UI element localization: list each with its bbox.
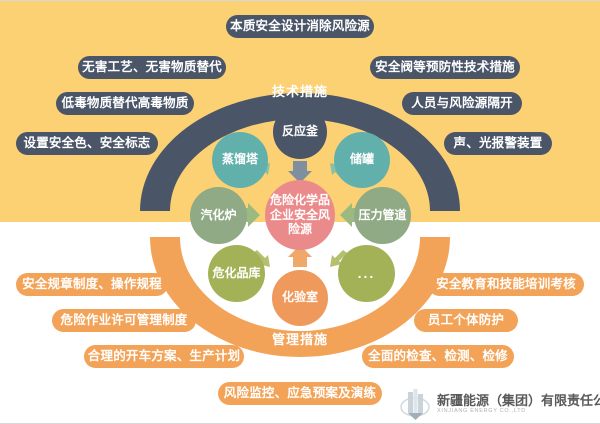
node-pressure-pipeline-label: 压力管道 (358, 209, 406, 222)
pill-audio-visual-alarm-label: 声、光报警装置 (454, 137, 543, 150)
logo-company-name-cn: 新疆能源（集团）有限责任公司 (437, 394, 600, 407)
node-distillation-tower[interactable]: 蒸馏塔 (212, 132, 268, 188)
pill-essential-safety-design-label: 本质安全设计消除风险源 (230, 20, 370, 33)
pill-personnel-isolation-label: 人员与风险源隔开 (411, 97, 513, 110)
pill-harmless-process-label: 无害工艺、无害物质替代 (82, 61, 222, 74)
pill-safety-valve-preventive-label: 安全阀等预防性技术措施 (375, 61, 515, 74)
node-gasifier-label: 汽化炉 (200, 209, 236, 222)
pill-risk-monitoring-emergency-label: 风险监控、应急预案及演练 (224, 387, 376, 400)
pill-comprehensive-inspection[interactable]: 全面的检查、检测、检修 (362, 345, 514, 368)
pill-safety-rules-procedures-label: 安全规章制度、操作规程 (22, 278, 162, 291)
pill-personal-protection[interactable]: 员工个体防护 (414, 309, 518, 332)
pill-essential-safety-design[interactable]: 本质安全设计消除风险源 (226, 15, 374, 38)
node-storage-tank-label: 储罐 (350, 153, 374, 166)
node-others[interactable]: ... (338, 245, 395, 302)
node-distillation-tower-label: 蒸馏塔 (222, 153, 258, 166)
node-others-label: ... (358, 266, 376, 282)
node-center-label: 危险化学品企业安全风险源 (267, 193, 333, 237)
node-reactor-label: 反应釜 (282, 125, 318, 138)
pill-safety-education-training-label: 安全教育和技能培训考核 (436, 278, 576, 291)
infographic-canvas: 技术措施 管理措施 (0, 0, 600, 424)
node-hazardous-chemical-warehouse[interactable]: 危化品库 (208, 245, 265, 302)
pill-startup-production-plan-label: 合理的开车方案、生产计划 (88, 350, 240, 363)
xinjiang-energy-logo-icon (400, 387, 430, 421)
pill-comprehensive-inspection-label: 全面的检查、检测、检修 (368, 350, 508, 363)
pill-low-toxic-substitute[interactable]: 低毒物质替代高毒物质 (56, 92, 194, 115)
node-hazardous-chemical-warehouse-label: 危化品库 (212, 267, 260, 280)
pill-harmless-process[interactable]: 无害工艺、无害物质替代 (78, 56, 226, 79)
logo-company-name-en: XINJIANG ENERGY CO.,LTD (437, 409, 600, 415)
pill-startup-production-plan[interactable]: 合理的开车方案、生产计划 (84, 345, 244, 368)
node-reactor[interactable]: 反应釜 (273, 105, 327, 159)
pill-safety-color-signs[interactable]: 设置安全色、安全标志 (16, 132, 158, 155)
node-storage-tank[interactable]: 储罐 (334, 132, 390, 188)
pill-personal-protection-label: 员工个体防护 (428, 314, 504, 327)
node-center-risk-source[interactable]: 危险化学品企业安全风险源 (265, 180, 335, 250)
pill-safety-rules-procedures[interactable]: 安全规章制度、操作规程 (16, 273, 168, 296)
pill-low-toxic-substitute-label: 低毒物质替代高毒物质 (62, 97, 189, 110)
pill-safety-color-signs-label: 设置安全色、安全标志 (24, 137, 151, 150)
pill-hazardous-work-permit-label: 危险作业许可管理制度 (61, 314, 188, 327)
pill-personnel-isolation[interactable]: 人员与风险源隔开 (402, 92, 522, 115)
node-laboratory-label: 化验室 (282, 291, 318, 304)
pill-safety-valve-preventive[interactable]: 安全阀等预防性技术措施 (370, 56, 520, 79)
node-pressure-pipeline[interactable]: 压力管道 (354, 187, 411, 244)
pill-safety-education-training[interactable]: 安全教育和技能培训考核 (428, 273, 584, 296)
logo-text-block: 新疆能源（集团）有限责任公司 XINJIANG ENERGY CO.,LTD (437, 394, 600, 415)
pill-audio-visual-alarm[interactable]: 声、光报警装置 (444, 132, 552, 155)
node-gasifier[interactable]: 汽化炉 (190, 187, 247, 244)
pill-risk-monitoring-emergency[interactable]: 风险监控、应急预案及演练 (218, 382, 382, 405)
pill-hazardous-work-permit[interactable]: 危险作业许可管理制度 (52, 309, 196, 332)
company-logo: 新疆能源（集团）有限责任公司 XINJIANG ENERGY CO.,LTD (400, 387, 600, 421)
node-laboratory[interactable]: 化验室 (272, 270, 328, 326)
